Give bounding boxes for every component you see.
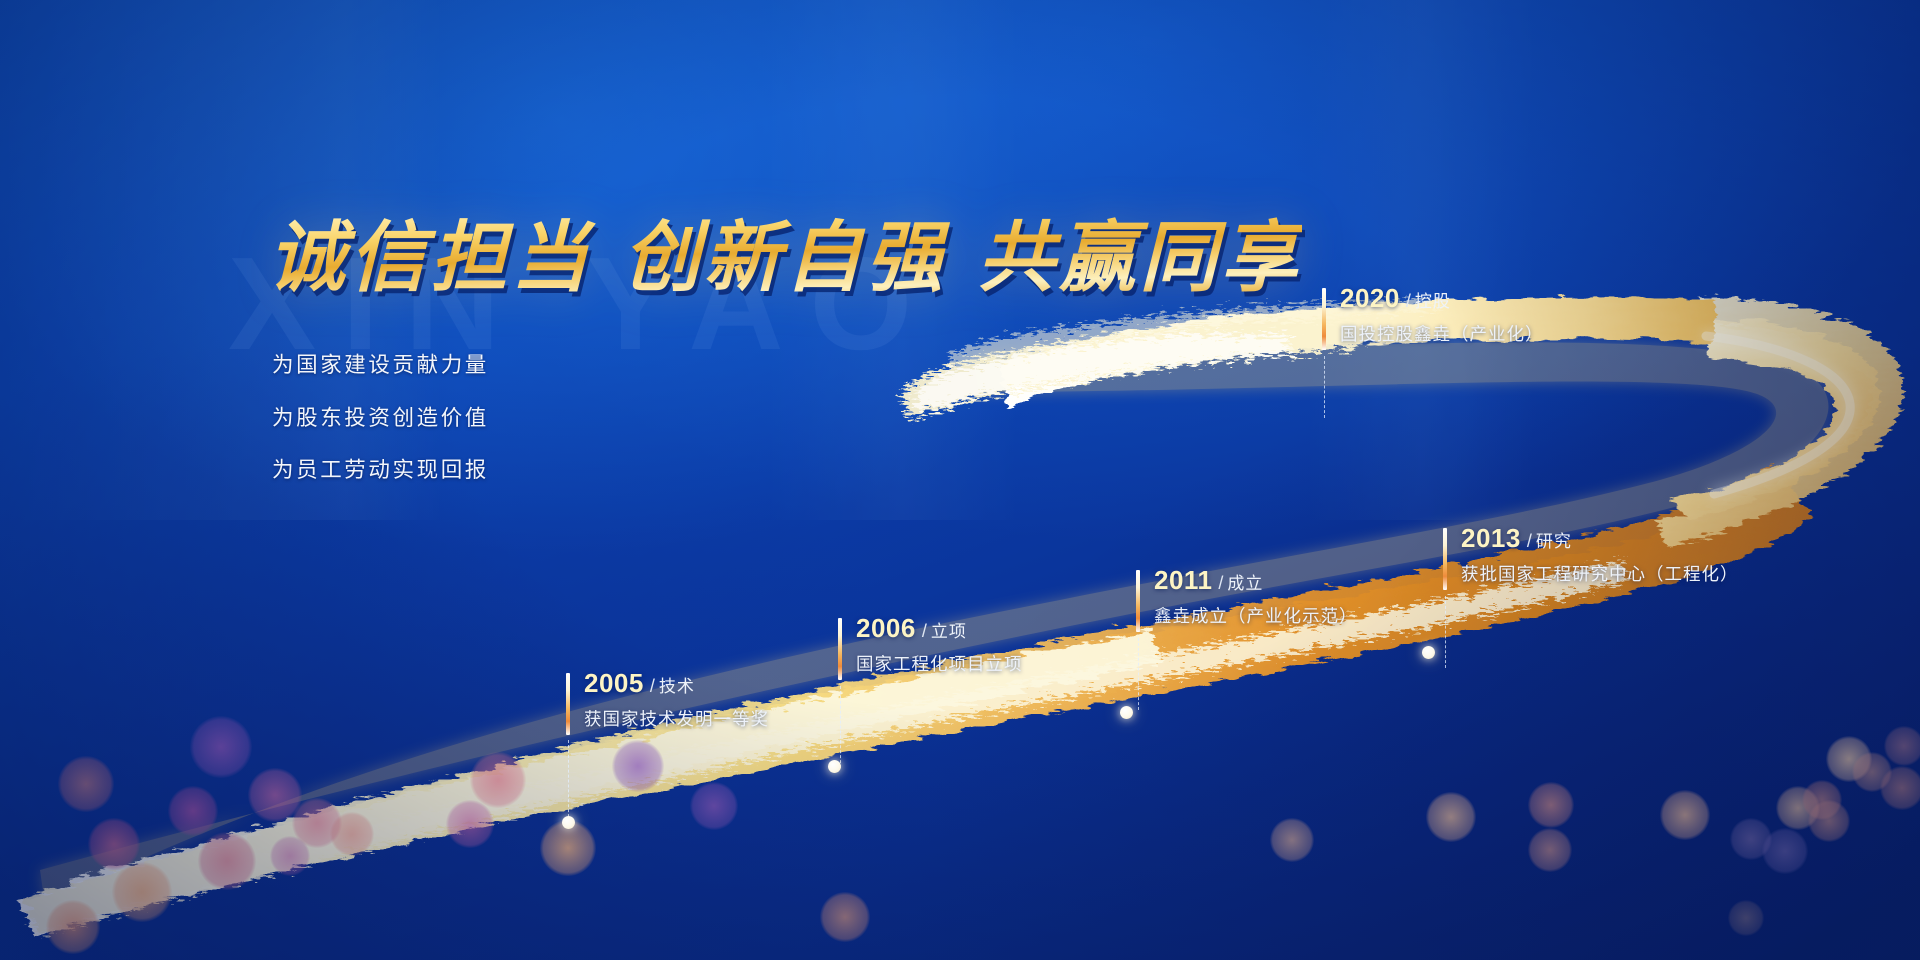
bokeh-circle <box>1728 900 1764 936</box>
bokeh-circle <box>330 812 374 856</box>
bokeh-circle <box>198 832 256 890</box>
timeline-heading: 2005/技术 <box>584 670 695 696</box>
timeline-heading: 2013/研究 <box>1461 525 1572 551</box>
timeline-connector-2005 <box>568 740 569 822</box>
accent-bar <box>1443 528 1447 590</box>
timeline-category: 立项 <box>931 622 967 641</box>
bokeh-circle <box>190 716 252 778</box>
subtitle-line: 为员工劳动实现回报 <box>272 460 489 482</box>
timeline-description: 鑫垚成立（产业化示范） <box>1154 603 1358 628</box>
bokeh-circle <box>820 892 870 942</box>
bokeh-circle <box>292 798 342 848</box>
bokeh-circle <box>248 768 302 822</box>
timeline-category: 技术 <box>659 677 695 696</box>
bokeh-circle <box>1880 766 1920 810</box>
subtitle-line: 为国家建设贡献力量 <box>272 355 489 377</box>
timeline-connector-2006 <box>840 686 841 768</box>
bokeh-circle <box>470 752 526 808</box>
bokeh-circle <box>270 836 310 876</box>
timeline-year: 2005 <box>584 668 644 698</box>
page-title: 诚信担当 创新自强 共赢同享 <box>268 196 1302 307</box>
bokeh-circle <box>1528 828 1572 872</box>
banner-canvas: XIN YAO 诚信担当 创新自强 共赢同享 为国家建设贡献力量 为股东投资创造… <box>0 0 1920 960</box>
timeline-marker-2011[interactable] <box>1120 706 1133 719</box>
bokeh-circle <box>1802 780 1842 820</box>
accent-bar <box>838 618 842 680</box>
timeline-marker-2005[interactable] <box>562 816 575 829</box>
bokeh-circle <box>1528 782 1574 828</box>
bokeh-circle <box>88 818 140 870</box>
timeline-marker-2006[interactable] <box>828 760 841 773</box>
timeline-connector-2020 <box>1324 356 1325 418</box>
bokeh-circle <box>58 756 114 812</box>
bokeh-circle <box>612 740 664 792</box>
timeline-year: 2013 <box>1461 523 1521 553</box>
timeline-separator: / <box>1406 291 1411 311</box>
timeline-year: 2020 <box>1340 283 1400 313</box>
timeline-connector-2013 <box>1445 596 1446 668</box>
bokeh-circle <box>112 862 172 922</box>
timeline-connector-2011 <box>1138 638 1139 710</box>
bokeh-circle <box>1826 736 1872 782</box>
timeline-separator: / <box>1218 573 1223 593</box>
bokeh-circle <box>1852 752 1892 792</box>
bokeh-circle <box>690 782 738 830</box>
bokeh-circle <box>1270 818 1314 862</box>
bokeh-circle <box>1660 790 1710 840</box>
bokeh-circle <box>1762 828 1808 874</box>
timeline-heading: 2020/控股 <box>1340 285 1451 311</box>
timeline-heading: 2006/立项 <box>856 615 967 641</box>
timeline-year: 2006 <box>856 613 916 643</box>
timeline-description: 获国家技术发明一等奖 <box>584 706 769 731</box>
timeline-separator: / <box>650 676 655 696</box>
bokeh-circle <box>168 786 218 836</box>
bokeh-circle <box>1730 818 1772 860</box>
timeline-year: 2011 <box>1154 565 1212 595</box>
bokeh-circle <box>446 800 494 848</box>
timeline-heading: 2011/成立 <box>1154 567 1263 593</box>
timeline-description: 获批国家工程研究中心（工程化） <box>1461 561 1739 586</box>
accent-bar <box>1322 288 1326 350</box>
subtitle-line: 为股东投资创造价值 <box>272 408 489 430</box>
timeline-marker-2013[interactable] <box>1422 646 1435 659</box>
bokeh-circle <box>1884 726 1920 766</box>
timeline-category: 成立 <box>1227 574 1263 593</box>
subtitle-group: 为国家建设贡献力量 为股东投资创造价值 为员工劳动实现回报 <box>272 355 489 513</box>
timeline-description: 国家工程化项目立项 <box>856 651 1023 676</box>
bokeh-circle <box>1808 800 1850 842</box>
timeline-category: 研究 <box>1536 532 1572 551</box>
timeline-separator: / <box>1527 531 1532 551</box>
accent-bar <box>1136 570 1140 632</box>
accent-bar <box>566 673 570 735</box>
bokeh-circle <box>46 900 100 954</box>
timeline-description: 国投控股鑫垚（产业化） <box>1340 321 1544 346</box>
bokeh-circle <box>1776 786 1820 830</box>
timeline-separator: / <box>922 621 927 641</box>
bokeh-circle <box>1426 792 1476 842</box>
timeline-category: 控股 <box>1415 292 1451 311</box>
